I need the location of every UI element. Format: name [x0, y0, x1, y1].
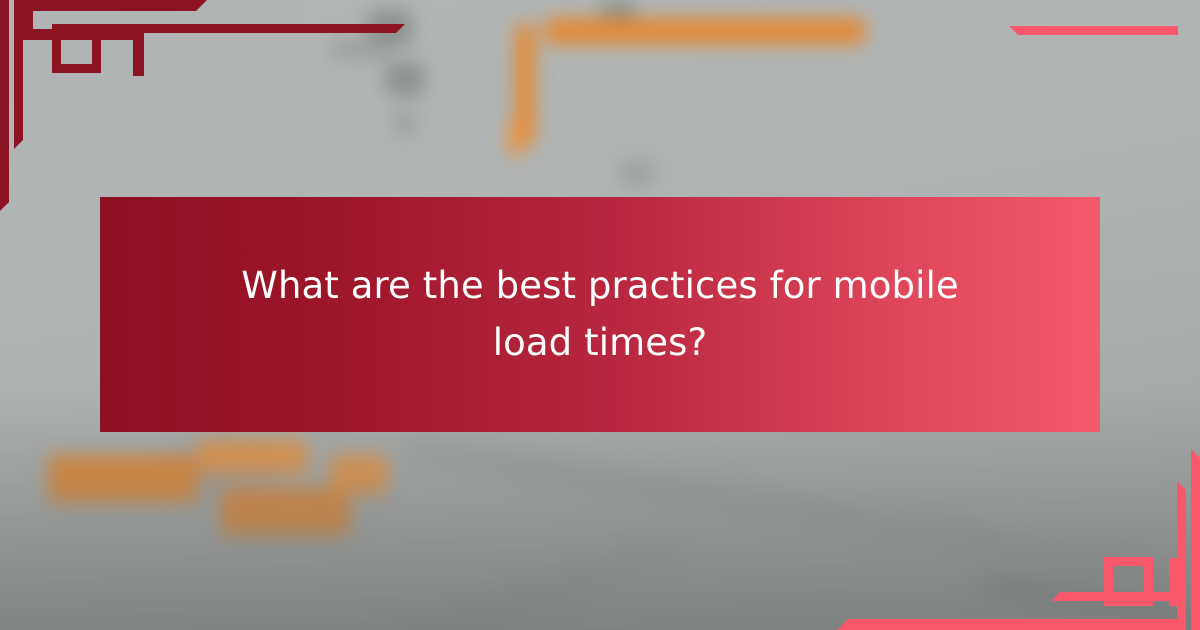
pencil-mark-top-d: [394, 110, 416, 136]
social-card: What are the best practices for mobile l…: [0, 0, 1200, 630]
deco-bottom-right-horizontal-bottom: [848, 619, 1178, 630]
headline-text: What are the best practices for mobile l…: [228, 258, 973, 370]
deco-top-left-vertical-outer: [0, 0, 9, 202]
deco-bottom-right-square: [1104, 557, 1153, 606]
orange-stroke-top-horizontal: [545, 18, 865, 44]
deco-top-left-vertical-drop: [133, 29, 144, 76]
pencil-mark-top-b: [330, 38, 390, 60]
orange-stroke-top-tail: [508, 120, 524, 156]
deco-bottom-right-vertical-short: [1169, 558, 1178, 606]
deco-top-left-horizontal-long: [83, 24, 396, 33]
deco-bottom-right-horizontal-top: [1018, 26, 1178, 35]
deco-top-left-square: [52, 24, 101, 73]
pencil-mark-top-c: [386, 62, 424, 96]
pencil-mark-top-e: [600, 0, 636, 18]
deco-bottom-right-vertical-outer: [1191, 458, 1200, 630]
headline-banner: What are the best practices for mobile l…: [100, 197, 1100, 432]
deco-top-left-horizontal-top: [22, 0, 196, 11]
deco-bottom-right-vertical-inner: [1177, 490, 1186, 630]
pencil-mark-top-f: [620, 160, 654, 186]
